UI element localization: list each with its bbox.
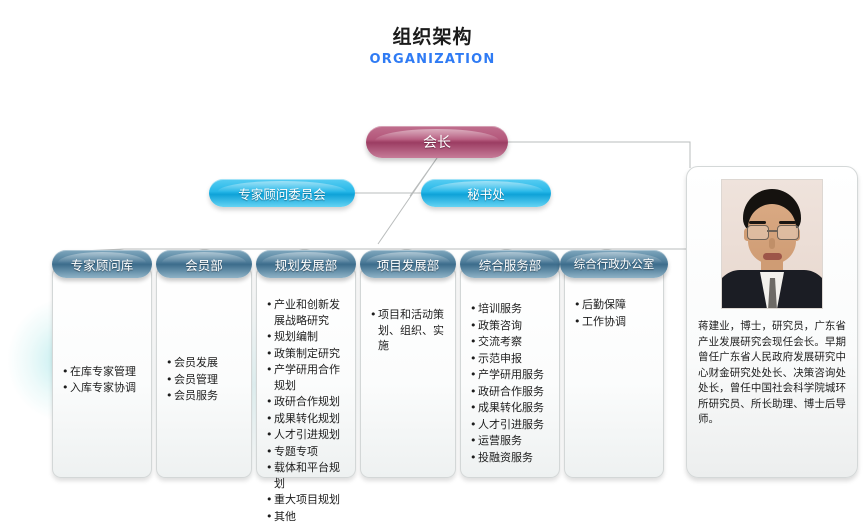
- portrait-glasses: [746, 225, 798, 239]
- department-header-membership[interactable]: 会员部: [156, 250, 252, 278]
- department-item: 入库专家协调: [62, 380, 145, 396]
- department-item: 政研合作服务: [470, 384, 553, 400]
- department-card-membership[interactable]: 会员发展会员管理会员服务: [156, 266, 252, 478]
- department-item-list: 会员发展会员管理会员服务: [166, 355, 245, 405]
- department-item: 成果转化规划: [266, 411, 349, 427]
- department-item: 产学研用合作规划: [266, 362, 349, 393]
- president-profile-card[interactable]: 蒋建业，博士，研究员，广东省产业发展研究会现任会长。早期曾任广东省人民政府发展研…: [686, 166, 858, 478]
- portrait-brow-right: [779, 221, 796, 224]
- department-body: 会员发展会员管理会员服务: [157, 267, 251, 477]
- department-card-project-development[interactable]: 项目和活动策划、组织、实施: [360, 266, 456, 478]
- department-item: 政策咨询: [470, 318, 553, 334]
- department-card-planning-development[interactable]: 产业和创新发展战略研究规划编制政策制定研究产学研用合作规划政研合作规划成果转化规…: [256, 266, 356, 478]
- department-item-list: 后勤保障工作协调: [574, 297, 657, 330]
- node-expert-advisory-committee-label: 专家顾问委员会: [238, 184, 326, 203]
- department-header-comprehensive-services[interactable]: 综合服务部: [460, 250, 560, 278]
- department-header-planning-development[interactable]: 规划发展部: [256, 250, 356, 278]
- president-biography: 蒋建业，博士，研究员，广东省产业发展研究会现任会长。早期曾任广东省人民政府发展研…: [698, 319, 846, 428]
- department-item: 后勤保障: [574, 297, 657, 313]
- department-item: 培训服务: [470, 301, 553, 317]
- department-item-list: 产业和创新发展战略研究规划编制政策制定研究产学研用合作规划政研合作规划成果转化规…: [266, 297, 349, 525]
- department-body: 项目和活动策划、组织、实施: [361, 267, 455, 477]
- department-item: 产业和创新发展战略研究: [266, 297, 349, 328]
- department-item: 工作协调: [574, 314, 657, 330]
- department-header-project-development[interactable]: 项目发展部: [360, 250, 456, 278]
- node-president[interactable]: 会长: [366, 126, 508, 158]
- department-item: 投融资服务: [470, 450, 553, 466]
- department-card-comprehensive-services[interactable]: 培训服务政策咨询交流考察示范申报产学研用服务政研合作服务成果转化服务人才引进服务…: [460, 266, 560, 478]
- department-item: 运营服务: [470, 433, 553, 449]
- portrait-mouth: [763, 253, 782, 260]
- department-item: 规划编制: [266, 329, 349, 345]
- department-item-list: 在库专家管理入库专家协调: [62, 364, 145, 397]
- glasses-lens-right: [777, 225, 799, 240]
- portrait-nose: [769, 238, 775, 249]
- department-body: 在库专家管理入库专家协调: [53, 267, 151, 477]
- department-card-administration-office[interactable]: 后勤保障工作协调: [564, 266, 664, 478]
- department-item: 会员管理: [166, 372, 245, 388]
- department-item: 在库专家管理: [62, 364, 145, 380]
- department-item: 产学研用服务: [470, 367, 553, 383]
- department-header-administration-office[interactable]: 综合行政办公室: [560, 250, 668, 278]
- department-item: 专题专项: [266, 444, 349, 460]
- department-body: 培训服务政策咨询交流考察示范申报产学研用服务政研合作服务成果转化服务人才引进服务…: [461, 267, 559, 477]
- department-header-expert-pool[interactable]: 专家顾问库: [52, 250, 152, 278]
- pill-highlight: [162, 252, 246, 263]
- node-secretariat[interactable]: 秘书处: [421, 179, 551, 207]
- glasses-bridge: [767, 230, 777, 232]
- organization-chart-canvas: 组织架构 ORGANIZATION 会长: [0, 0, 865, 500]
- department-item: 成果转化服务: [470, 400, 553, 416]
- president-portrait-photo: [721, 179, 823, 309]
- department-item: 人才引进服务: [470, 417, 553, 433]
- department-item: 载体和平台规划: [266, 460, 349, 491]
- department-card-expert-pool[interactable]: 在库专家管理入库专家协调: [52, 266, 152, 478]
- department-item: 政研合作规划: [266, 394, 349, 410]
- glasses-lens-left: [747, 225, 769, 240]
- department-item: 示范申报: [470, 351, 553, 367]
- department-item: 其他: [266, 509, 349, 525]
- department-item: 会员发展: [166, 355, 245, 371]
- department-item: 会员服务: [166, 388, 245, 404]
- node-expert-advisory-committee[interactable]: 专家顾问委员会: [209, 179, 355, 207]
- pill-highlight: [566, 252, 661, 263]
- department-item: 政策制定研究: [266, 346, 349, 362]
- portrait-brow-left: [749, 221, 766, 224]
- node-secretariat-label: 秘书处: [467, 184, 505, 203]
- department-item: 人才引进规划: [266, 427, 349, 443]
- department-item-list: 培训服务政策咨询交流考察示范申报产学研用服务政研合作服务成果转化服务人才引进服务…: [470, 301, 553, 466]
- department-item: 项目和活动策划、组织、实施: [370, 307, 449, 354]
- department-body: 产业和创新发展战略研究规划编制政策制定研究产学研用合作规划政研合作规划成果转化规…: [257, 267, 355, 477]
- department-item-list: 项目和活动策划、组织、实施: [370, 307, 449, 355]
- node-president-label: 会长: [423, 132, 451, 152]
- department-item: 交流考察: [470, 334, 553, 350]
- department-body: 后勤保障工作协调: [565, 267, 663, 477]
